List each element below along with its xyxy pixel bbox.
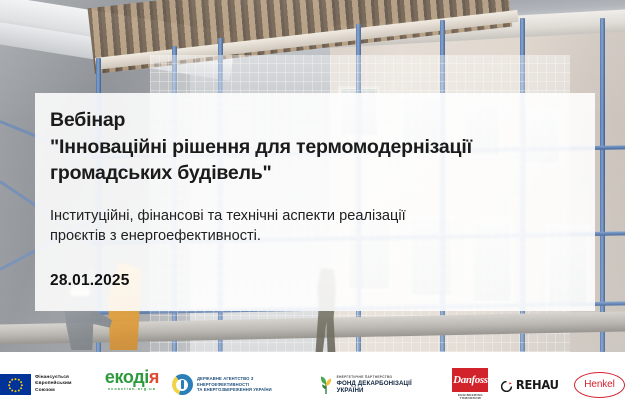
logo-henkel: Henkel (574, 368, 625, 402)
saee-emblem-icon (172, 374, 193, 395)
logo-decarbonization-fund: ЕНЕРГЕТИЧНЕ ПАРТНЕРСТВО ФОНД ДЕКАРБОНІЗА… (319, 368, 440, 402)
logo-rehau-wordmark: REHAU (516, 377, 559, 392)
logo-rehau: REHAU (501, 368, 561, 402)
logo-henkel-wordmark: Henkel (584, 379, 615, 390)
sponsor-logo-bar: Фінансується Європейським Союзом екодія … (0, 352, 625, 417)
fund-leaf-icon (319, 375, 333, 394)
logo-ekodiya-url: ecoaction.org.ua (108, 387, 156, 391)
logo-danfoss: Danfoss ENGINEERING TOMORROW (452, 368, 488, 402)
content-panel: Вебінар "Інноваційні рішення для термомо… (35, 93, 595, 311)
logo-ekodiya-wordmark: екодія (105, 368, 159, 386)
logo-saee-label: ДЕРЖАВНЕ АГЕНТСТВО З ЕНЕРГОЕФЕКТИВНОСТІ … (197, 376, 306, 392)
logo-ekodiya-word-main: екоді (105, 367, 149, 387)
logo-eu-funding-label: Фінансується Європейським Союзом (35, 375, 92, 394)
logo-fund-tagline: ЕНЕРГЕТИЧНЕ ПАРТНЕРСТВО (337, 375, 440, 379)
logo-fund-name: ФОНД ДЕКАРБОНІЗАЦІЇ УКРАЇНИ (337, 380, 440, 394)
logo-danfoss-tagline: ENGINEERING TOMORROW (458, 394, 483, 402)
webinar-date: 28.01.2025 (50, 272, 581, 290)
logo-eu-funding: Фінансується Європейським Союзом (0, 368, 92, 402)
webinar-title: Вебінар "Інноваційні рішення для термомо… (50, 107, 581, 187)
webinar-subtitle: Інституційні, фінансові та технічні аспе… (50, 206, 581, 247)
rehau-emblem-icon (501, 379, 512, 390)
henkel-oval: Henkel (574, 372, 625, 398)
logo-ekodiya: екодія ecoaction.org.ua (105, 368, 159, 402)
logo-saee: ДЕРЖАВНЕ АГЕНТСТВО З ЕНЕРГОЕФЕКТИВНОСТІ … (172, 368, 306, 402)
content-panel-inner: Вебінар "Інноваційні рішення для термомо… (50, 107, 581, 290)
logo-fund-texts: ЕНЕРГЕТИЧНЕ ПАРТНЕРСТВО ФОНД ДЕКАРБОНІЗА… (337, 375, 440, 394)
webinar-banner: Вебінар "Інноваційні рішення для термомо… (0, 0, 625, 417)
danfoss-badge: Danfoss (452, 368, 488, 392)
eu-flag-icon (0, 374, 31, 395)
logo-danfoss-wordmark: Danfoss (453, 374, 488, 386)
logo-ekodiya-word-accent: я (149, 367, 159, 387)
